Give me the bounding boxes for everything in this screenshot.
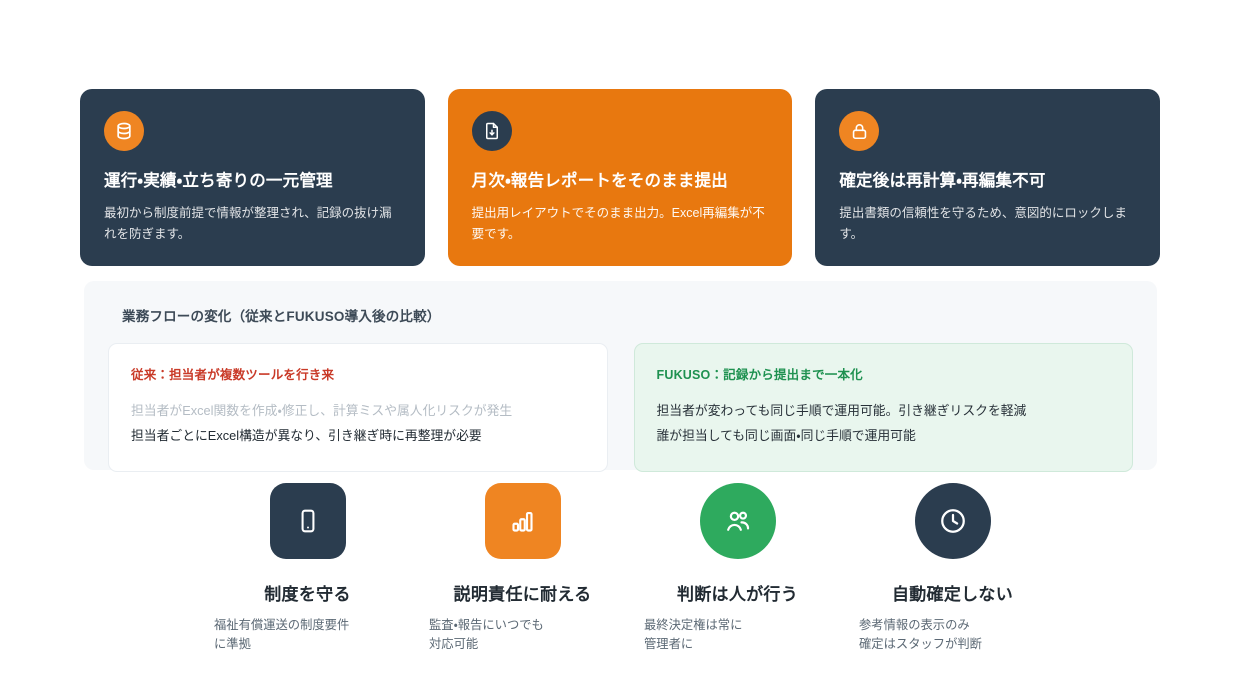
principles-row: 制度を守る 福祉有償運送の制度要件 に準拠 説明責任に耐える 監査・報告にいつで… [200,483,1060,654]
principle-title: 制度を守る [264,580,351,605]
comparison-section-title: 業務フローの変化（従来とFUKUSO導入後の比較） [122,305,1135,325]
comparison-before-line-1: 担当者がExcel関数を作成・修正し、計算ミスや属人化リスクが発生 [131,399,585,424]
principle-item-compliance[interactable]: 制度を守る 福祉有償運送の制度要件 に準拠 [200,483,415,654]
principle-description: 参考情報の表示のみ 確定はスタッフが判断 [845,616,982,654]
comparison-after-line-2: 誰が担当しても同じ画面・同じ手順で運用可能 [657,424,1111,449]
principle-item-accountability[interactable]: 説明責任に耐える 監査・報告にいつでも 対応可能 [415,483,630,654]
feature-card-title: 運行・実績・立ち寄りの一元管理 [104,171,401,192]
page-root: 運行・実績・立ち寄りの一元管理 最初から制度前提で情報が整理され、記録の抜け漏れ… [0,0,1240,698]
clock-icon [915,483,991,559]
smartphone-icon [270,483,346,559]
database-icon [104,111,144,151]
feature-card-report-export[interactable]: 月次・報告レポートをそのまま提出 提出用レイアウトでそのまま出力。Excel再編… [448,89,793,266]
file-download-icon [472,111,512,151]
comparison-panel-before: 従来：担当者が複数ツールを行き来 担当者がExcel関数を作成・修正し、計算ミス… [108,343,608,472]
principle-title: 自動確定しない [892,580,1013,605]
feature-card-description: 提出用レイアウトでそのまま出力。Excel再編集が不要です。 [472,203,769,244]
lock-icon [839,111,879,151]
comparison-columns: 従来：担当者が複数ツールを行き来 担当者がExcel関数を作成・修正し、計算ミス… [106,343,1135,472]
principle-description: 福祉有償運送の制度要件 に準拠 [200,616,349,654]
principle-description: 最終決定権は常に 管理者に [630,616,742,654]
principle-item-human-decision[interactable]: 判断は人が行う 最終決定権は常に 管理者に [630,483,845,654]
principle-title: 説明責任に耐える [454,580,592,605]
comparison-before-line-2: 担当者ごとにExcel構造が異なり、引き継ぎ時に再整理が必要 [131,424,585,449]
feature-card-title: 月次・報告レポートをそのまま提出 [472,171,769,192]
feature-card-unified-management[interactable]: 運行・実績・立ち寄りの一元管理 最初から制度前提で情報が整理され、記録の抜け漏れ… [80,89,425,266]
feature-card-description: 最初から制度前提で情報が整理され、記録の抜け漏れを防ぎます。 [104,203,401,244]
feature-card-title: 確定後は再計算・再編集不可 [839,171,1136,192]
feature-card-row: 運行・実績・立ち寄りの一元管理 最初から制度前提で情報が整理され、記録の抜け漏れ… [80,89,1160,266]
comparison-after-line-1: 担当者が変わっても同じ手順で運用可能。引き継ぎリスクを軽減 [657,399,1111,424]
comparison-before-heading: 従来：担当者が複数ツールを行き来 [131,364,585,383]
users-icon [700,483,776,559]
bar-chart-icon [485,483,561,559]
feature-card-description: 提出書類の信頼性を守るため、意図的にロックします。 [839,203,1136,244]
principle-item-no-auto-confirm[interactable]: 自動確定しない 参考情報の表示のみ 確定はスタッフが判断 [845,483,1060,654]
principle-title: 判断は人が行う [677,580,798,605]
principle-description: 監査・報告にいつでも 対応可能 [415,616,544,654]
comparison-after-heading: FUKUSO：記録から提出まで一本化 [657,364,1111,383]
workflow-comparison-section: 業務フローの変化（従来とFUKUSO導入後の比較） 従来：担当者が複数ツールを行… [84,281,1157,470]
feature-card-lock-after-confirm[interactable]: 確定後は再計算・再編集不可 提出書類の信頼性を守るため、意図的にロックします。 [815,89,1160,266]
comparison-panel-after: FUKUSO：記録から提出まで一本化 担当者が変わっても同じ手順で運用可能。引き… [634,343,1134,472]
